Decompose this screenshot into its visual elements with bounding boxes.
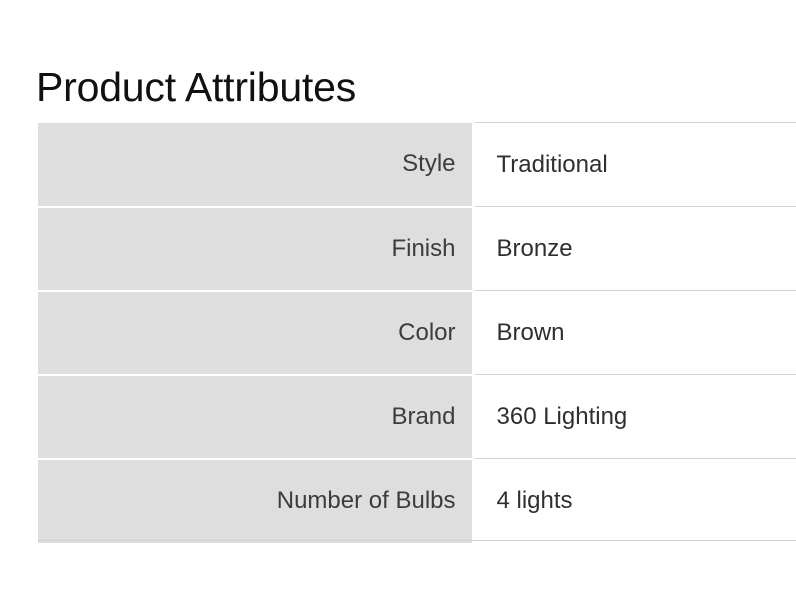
table-row: Style Traditional bbox=[38, 123, 796, 207]
product-attributes-page: Product Attributes Style Traditional Fin… bbox=[0, 0, 796, 598]
attribute-label: Finish bbox=[38, 207, 473, 291]
table-bottom-divider bbox=[38, 540, 796, 541]
attribute-value: 4 lights bbox=[473, 459, 796, 543]
attribute-value: Brown bbox=[473, 291, 796, 375]
table-row: Color Brown bbox=[38, 291, 796, 375]
attribute-value: Bronze bbox=[473, 207, 796, 291]
table-row: Number of Bulbs 4 lights bbox=[38, 459, 796, 543]
attribute-label: Style bbox=[38, 123, 473, 207]
attribute-value: Traditional bbox=[473, 123, 796, 207]
table-row: Brand 360 Lighting bbox=[38, 375, 796, 459]
table-body: Style Traditional Finish Bronze Color Br… bbox=[38, 123, 796, 543]
product-attributes-table: Style Traditional Finish Bronze Color Br… bbox=[38, 122, 796, 543]
attribute-value: 360 Lighting bbox=[473, 375, 796, 459]
attribute-label: Number of Bulbs bbox=[38, 459, 473, 543]
page-title: Product Attributes bbox=[36, 63, 356, 111]
attribute-label: Brand bbox=[38, 375, 473, 459]
table-row: Finish Bronze bbox=[38, 207, 796, 291]
attribute-label: Color bbox=[38, 291, 473, 375]
